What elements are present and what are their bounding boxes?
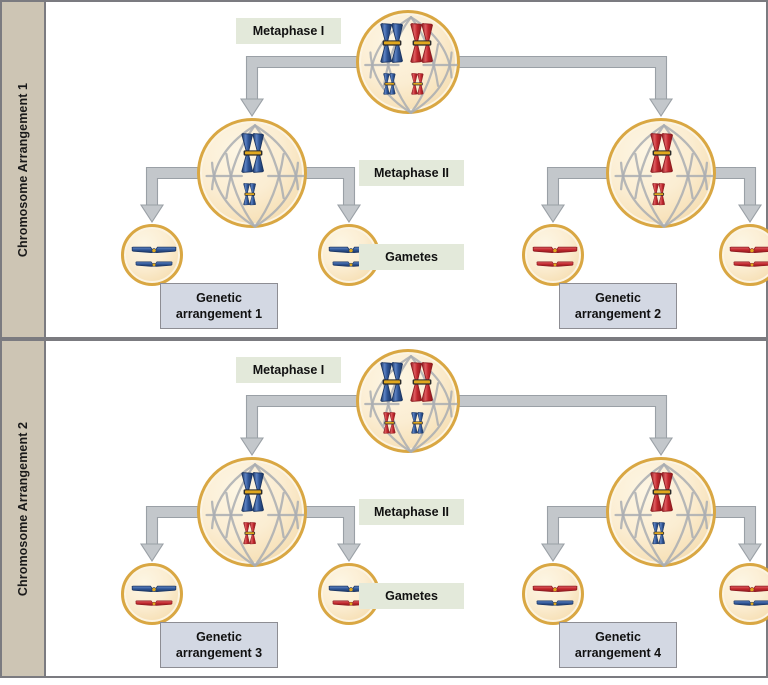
chromosome-blue-top-left	[379, 362, 405, 402]
metaphase-ii-cell-right	[606, 457, 716, 567]
phase-label-gametes: Gametes	[359, 244, 464, 270]
panel-stage: Metaphase IMetaphase IIGametesGeneticarr…	[46, 2, 766, 337]
chromatid-red-upper	[729, 583, 768, 594]
chromatid-blue-lower	[135, 258, 173, 269]
genetic-arrangement-label-left-line1: Genetic	[171, 290, 267, 306]
spindle-fibers	[359, 13, 457, 111]
chromosome-red-bottom	[241, 522, 259, 544]
chromosome-blue-bottom-left	[381, 73, 398, 95]
genetic-arrangement-label-right-line2: arrangement 2	[570, 306, 666, 322]
chromosome-blue-top	[240, 472, 266, 512]
phase-label-metaphase-i: Metaphase I	[236, 357, 341, 383]
chromosome-blue-top	[240, 133, 266, 173]
metaphase-ii-cell-right	[606, 118, 716, 228]
genetic-arrangement-label-left-line1: Genetic	[171, 629, 267, 645]
chromosome-red-top	[649, 472, 675, 512]
chromosome-blue-bottom	[650, 522, 668, 544]
genetic-arrangement-label-left: Geneticarrangement 3	[160, 622, 278, 668]
chromatid-red-lower	[135, 597, 173, 608]
gamete-4	[719, 224, 768, 286]
panel-1: Chromosome Arrangement 1Metaphase IMetap…	[0, 0, 768, 339]
metaphase-ii-cell-left	[197, 457, 307, 567]
genetic-arrangement-label-right-line1: Genetic	[570, 290, 666, 306]
gamete-1	[121, 224, 183, 286]
gamete-1	[121, 563, 183, 625]
genetic-arrangement-label-right-line1: Genetic	[570, 629, 666, 645]
phase-label-gametes: Gametes	[359, 583, 464, 609]
phase-label-metaphase-ii: Metaphase II	[359, 499, 464, 525]
panel-side-label-text: Chromosome Arrangement 2	[16, 421, 30, 595]
genetic-arrangement-label-left-line2: arrangement 3	[171, 645, 267, 661]
chromosome-red-bottom-right	[409, 73, 426, 95]
chromatid-red-lower	[536, 258, 574, 269]
chromosome-red-bottom-left	[381, 412, 398, 434]
chromatid-red-lower	[733, 258, 768, 269]
genetic-arrangement-label-left-line2: arrangement 1	[171, 306, 267, 322]
chromosome-blue-top-left	[379, 23, 405, 63]
panel-2: Chromosome Arrangement 2Metaphase IMetap…	[0, 339, 768, 678]
phase-label-metaphase-ii: Metaphase II	[359, 160, 464, 186]
genetic-arrangement-label-right: Geneticarrangement 4	[559, 622, 677, 668]
genetic-arrangement-label-left: Geneticarrangement 1	[160, 283, 278, 329]
chromosome-red-top-right	[409, 23, 435, 63]
chromatid-blue-upper	[131, 244, 177, 255]
chromatid-blue-lower	[733, 597, 768, 608]
chromosome-blue-bottom	[241, 183, 259, 205]
spindle-fibers	[359, 352, 457, 450]
chromatid-blue-lower	[536, 597, 574, 608]
gamete-3	[522, 224, 584, 286]
panel-side-label-text: Chromosome Arrangement 1	[16, 82, 30, 256]
gamete-3	[522, 563, 584, 625]
chromatid-red-upper	[532, 583, 578, 594]
phase-label-metaphase-i: Metaphase I	[236, 18, 341, 44]
gamete-4	[719, 563, 768, 625]
chromosome-blue-bottom-right	[409, 412, 426, 434]
chromosome-red-top-right	[409, 362, 435, 402]
meiosis-chromosome-arrangement-figure: Chromosome Arrangement 1Metaphase IMetap…	[0, 0, 768, 678]
panel-side-label: Chromosome Arrangement 1	[2, 2, 46, 337]
chromatid-red-upper	[729, 244, 768, 255]
chromosome-red-top	[649, 133, 675, 173]
chromatid-blue-upper	[131, 583, 177, 594]
metaphase-ii-cell-left	[197, 118, 307, 228]
panel-side-label: Chromosome Arrangement 2	[2, 341, 46, 676]
metaphase-i-cell	[356, 349, 460, 453]
genetic-arrangement-label-right: Geneticarrangement 2	[559, 283, 677, 329]
genetic-arrangement-label-right-line2: arrangement 4	[570, 645, 666, 661]
panel-stage: Metaphase IMetaphase IIGametesGeneticarr…	[46, 341, 766, 676]
chromatid-red-upper	[532, 244, 578, 255]
metaphase-i-cell	[356, 10, 460, 114]
chromosome-red-bottom	[650, 183, 668, 205]
